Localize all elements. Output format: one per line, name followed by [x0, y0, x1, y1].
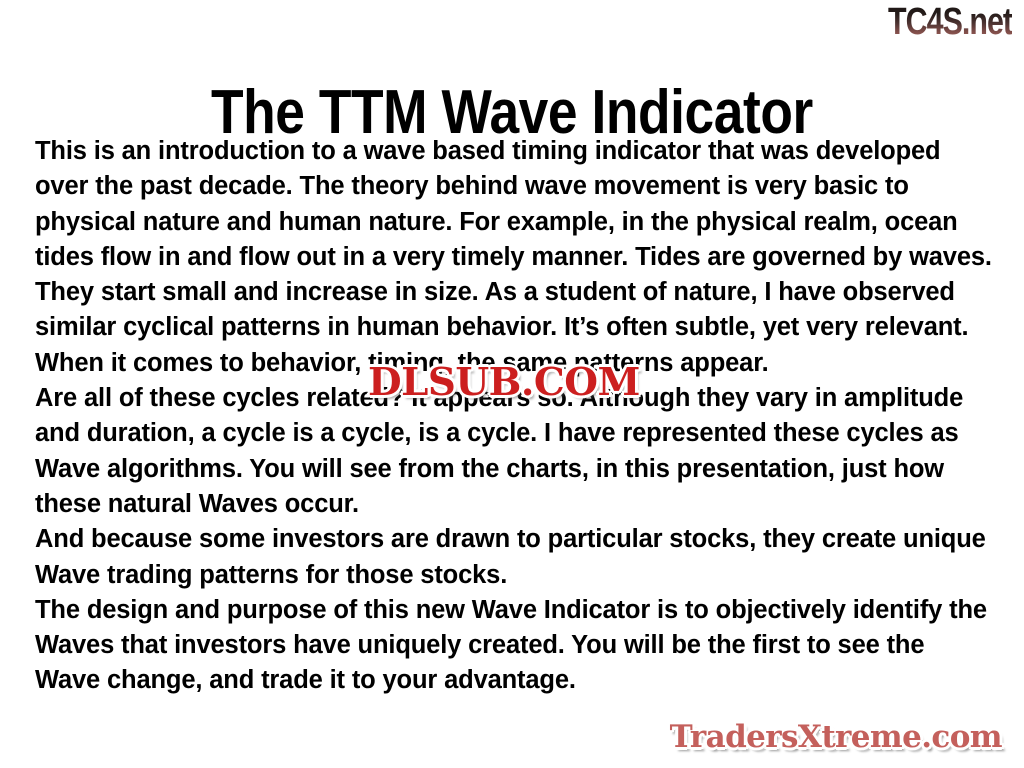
watermark-dlsub-com: DLSUB.COM	[368, 362, 640, 402]
brand-logo-tc4s: TC4S.net	[888, 2, 1012, 42]
body-paragraph-1: This is an introduction to a wave based …	[35, 134, 995, 346]
body-paragraph-4: And because some investors are drawn to …	[35, 522, 995, 593]
watermark-tradersxtreme-com: TradersXtreme.com	[670, 720, 1002, 754]
body-copy: This is an introduction to a wave based …	[35, 134, 995, 699]
slide-canvas: TC4S.net The TTM Wave Indicator This is …	[0, 0, 1024, 768]
body-paragraph-5: The design and purpose of this new Wave …	[35, 593, 995, 699]
